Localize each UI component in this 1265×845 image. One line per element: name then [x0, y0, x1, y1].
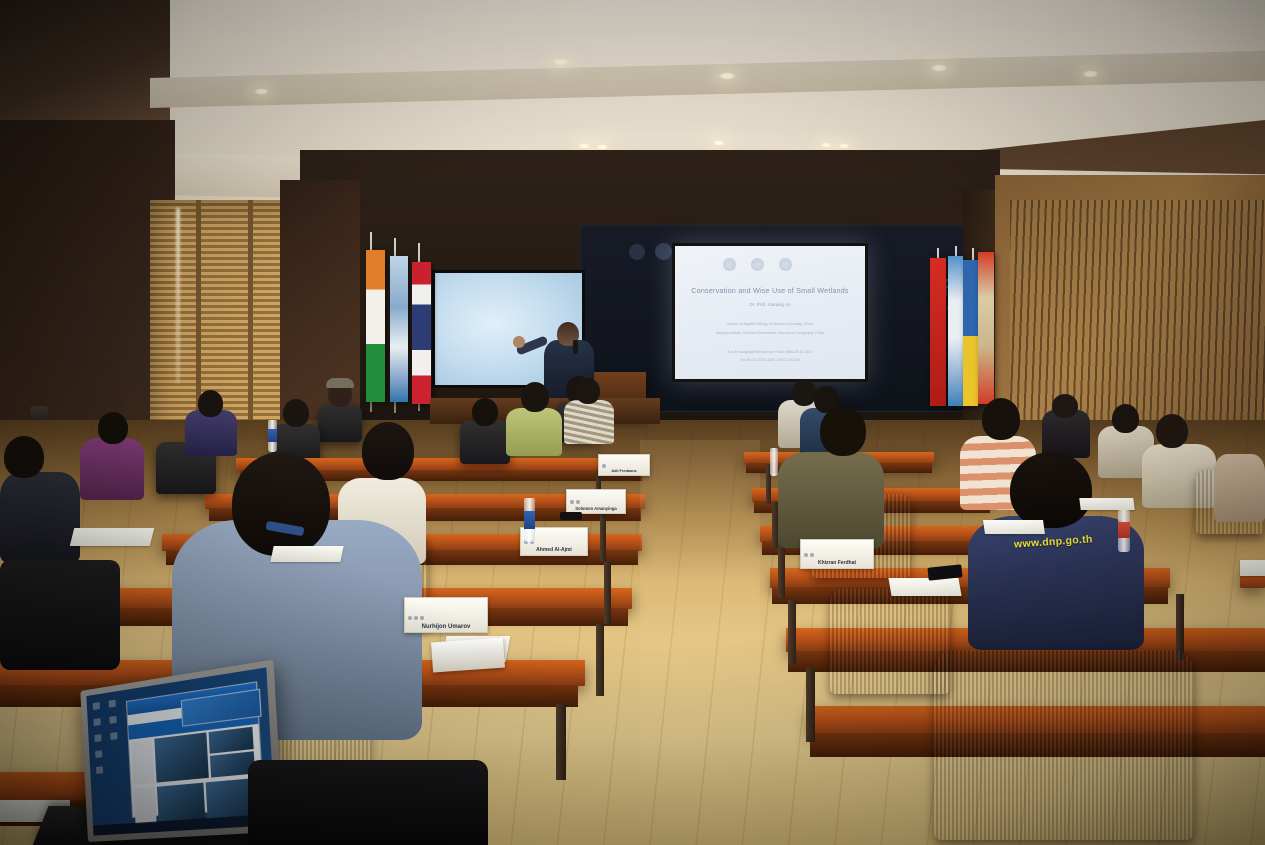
desktop-icon[interactable] [109, 700, 116, 708]
ceiling-light [838, 143, 850, 149]
desk-leg [556, 704, 566, 780]
attendee-head [98, 412, 128, 444]
paper-sheet [270, 546, 343, 562]
attendee-head [1112, 404, 1139, 433]
desktop-icon[interactable] [109, 716, 116, 724]
desk-leg [600, 509, 606, 561]
attendee-head [576, 378, 600, 404]
left-wall [0, 120, 175, 450]
ceiling-light [820, 142, 832, 148]
attendee-body [80, 438, 144, 500]
water-bottle [524, 498, 535, 542]
banner-logo [629, 244, 645, 260]
placard-logo-icon [804, 553, 808, 557]
placard-logo-icon [810, 553, 814, 557]
attendee-head [4, 436, 44, 478]
ceiling-light [718, 72, 736, 80]
bottle-label [1118, 522, 1130, 538]
name-placard: Solomon Amanyinga [566, 489, 626, 514]
flag-blue-white [390, 256, 408, 402]
desk-leg [788, 600, 796, 664]
attendee-head [472, 398, 498, 426]
placard-logo-icon [408, 616, 412, 620]
ceiling-light [1082, 70, 1099, 78]
attendee-head [283, 399, 309, 427]
chair [318, 404, 362, 442]
ceiling-light [254, 88, 269, 95]
banner-logo [655, 243, 672, 260]
chair [830, 588, 950, 694]
aisle [640, 440, 760, 840]
desktop-icon[interactable] [93, 718, 100, 726]
desk-leg [806, 668, 815, 742]
water-bottle [1118, 510, 1130, 552]
conference-room-photo: 2018年 2018 Seminar on Wetland 研修班 Asian … [0, 0, 1265, 845]
flag-thailand [412, 262, 431, 404]
window-light-leak [176, 208, 180, 383]
paper-sheet [983, 520, 1045, 534]
open-book [431, 638, 505, 673]
name-placard: Nurhijon Umarov [404, 597, 488, 633]
flag-crest [978, 252, 994, 404]
attendee-head [1010, 452, 1092, 528]
presenter-hand [513, 336, 525, 348]
slide-title: Conservation and Wise Use of Small Wetla… [675, 286, 865, 295]
ceiling-light [578, 143, 590, 149]
placard-logo-icon [420, 616, 424, 620]
attendee-body [0, 472, 80, 562]
slide-logo-3 [779, 258, 792, 271]
attendee-head [521, 382, 549, 412]
attendee-body [564, 400, 614, 444]
attendee-head [232, 452, 330, 556]
microphone [573, 340, 578, 354]
chair [248, 760, 488, 845]
slide-logo-2 [751, 258, 764, 271]
flag-ukraine [963, 260, 978, 406]
site-thumbnail[interactable] [157, 783, 206, 823]
chair [934, 650, 1194, 840]
desk-leg [596, 624, 604, 696]
ceiling-light [713, 140, 725, 146]
placard-logos [567, 498, 625, 506]
attendee-body [1214, 454, 1265, 522]
placard-logo-icon [602, 464, 606, 468]
placard-logos [801, 550, 873, 560]
bottle-label [524, 511, 535, 529]
site-thumbnail[interactable] [208, 727, 254, 754]
water-bottle [268, 420, 277, 452]
flag-honduras [948, 256, 963, 406]
desktop-icon[interactable] [110, 732, 117, 740]
desktop-icon[interactable] [96, 766, 103, 774]
slide-contact-1: E-mail: xiaojing@hotmail.com / Mob: 0086… [675, 350, 865, 354]
paper-sheet [888, 578, 961, 596]
blind-mullion [248, 200, 253, 448]
flag-china [930, 258, 946, 406]
paper-sheet [1079, 498, 1134, 510]
slide-contact-2: Tel: 86-010-5721-3240 / 0097-2413-66 [675, 358, 865, 362]
desk-leg [604, 562, 611, 624]
placard-logo-icon [570, 500, 574, 504]
attendee-head [820, 406, 866, 456]
placard-logo-icon [576, 500, 580, 504]
placard-logos [405, 612, 487, 624]
projected-slide: Conservation and Wise Use of Small Wetla… [675, 246, 865, 379]
slide-affiliation-1: School for Applied Biology of Guizhou Un… [675, 322, 865, 326]
attendee-head [982, 398, 1020, 440]
attendee-head [1156, 414, 1188, 448]
site-thumbnail[interactable] [155, 733, 209, 783]
attendee-body [778, 452, 884, 548]
desktop-icon[interactable] [95, 750, 102, 758]
attendee-body [506, 408, 562, 456]
attendee-head [1052, 394, 1078, 418]
chair [460, 420, 510, 464]
attendee-head [362, 422, 414, 480]
placard-name: Nurhijon Umarov [405, 624, 487, 632]
placard-logo-icon [414, 616, 418, 620]
slide-author: Dr. Prof. Xiaojing Ao [675, 302, 865, 307]
chair [0, 560, 120, 670]
slide-logo-1 [723, 258, 736, 271]
paper-sheet [70, 528, 154, 546]
attendee-head [198, 390, 223, 417]
desktop-icon[interactable] [93, 702, 100, 710]
water-bottle [770, 448, 778, 476]
ceiling-left-bulkhead [0, 0, 170, 120]
slide-affiliation-2: Nanjing Institute, Chinese Environment S… [675, 331, 865, 335]
placard-name: Ahmed Al-Ajmi [521, 547, 587, 555]
ceiling-light [552, 58, 570, 66]
flag-india [366, 250, 385, 402]
ceiling-light [930, 64, 948, 72]
paper-sheet [1240, 560, 1265, 576]
attendee-cap [326, 378, 354, 388]
desk-leg [778, 542, 785, 598]
placard-name: Khizran Ferdhat [801, 560, 873, 568]
bottle-label [268, 429, 277, 442]
attendee-head [792, 380, 816, 406]
desktop-icon[interactable] [94, 734, 101, 742]
smartphone[interactable] [560, 512, 582, 520]
name-placard: Khizran Ferdhat [800, 539, 874, 569]
projection-screen: Conservation and Wise Use of Small Wetla… [672, 243, 868, 382]
